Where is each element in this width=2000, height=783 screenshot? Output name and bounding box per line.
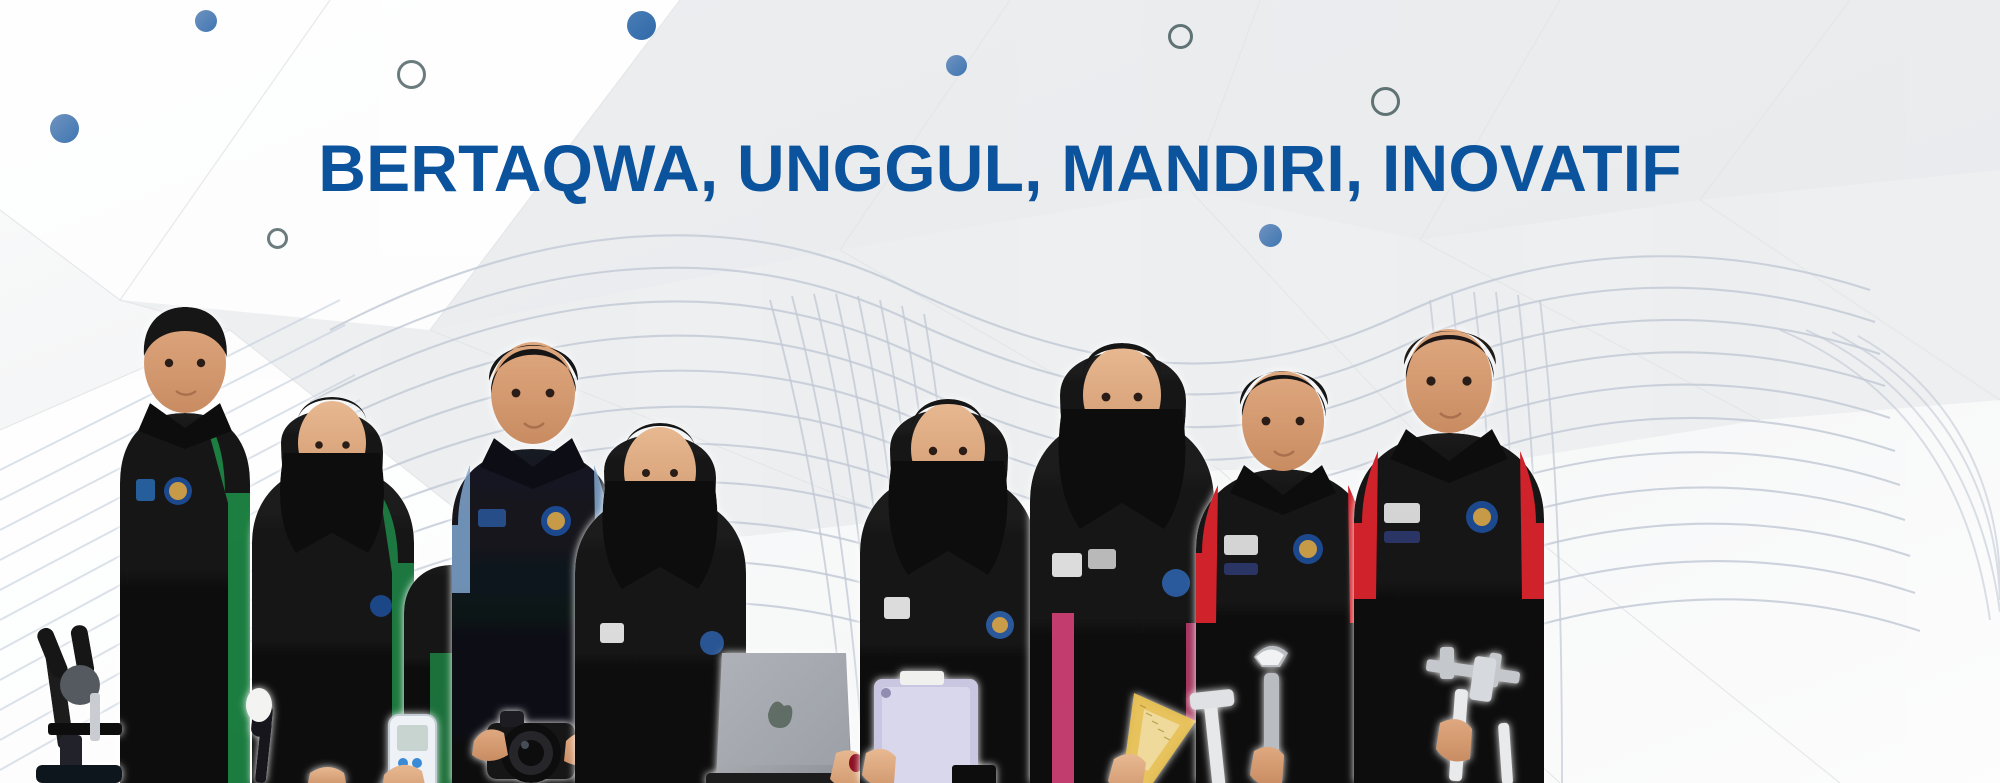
student-wrench: [1196, 371, 1370, 783]
student-microscope: [120, 307, 250, 783]
dot-top-left: [195, 10, 217, 32]
ring-left: [397, 60, 426, 89]
dot-top-center-right: [946, 55, 967, 76]
dot-top-right: [1259, 224, 1282, 247]
tablet-prop: [862, 671, 996, 783]
student-photo-row: [0, 253, 2000, 783]
student-caliper: [1354, 329, 1544, 783]
ring-right: [1168, 24, 1193, 49]
hero-banner: BERTAQWA, UNGGUL, MANDIRI, INOVATIF: [0, 0, 2000, 783]
laptop-prop: [706, 653, 866, 783]
ring-left-lower: [267, 228, 288, 249]
microscope-prop: [35, 624, 122, 783]
dot-left-upper: [50, 114, 79, 143]
ring-far-right: [1371, 87, 1400, 116]
dot-top-center: [627, 11, 656, 40]
